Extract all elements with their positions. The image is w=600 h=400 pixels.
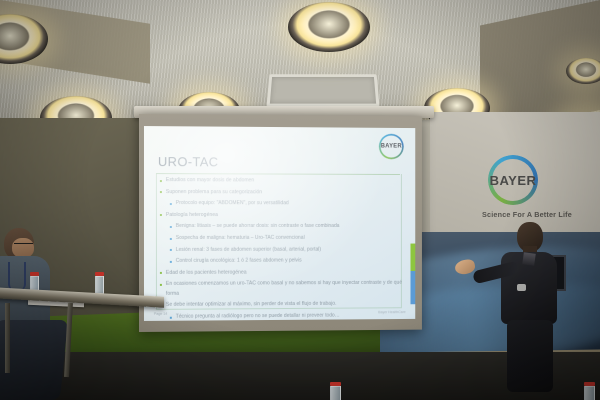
presenter-legs [507,320,553,392]
slide-bullet: Protocolo equipo: "ABDOMEN", por su vers… [158,199,404,209]
ceiling-light [566,58,600,84]
water-bottle [584,382,595,400]
bullet-marker-icon [160,191,162,193]
slide-bullet-text: Suponen problema para su categorización [166,188,262,198]
table-leg [5,303,10,373]
bullet-marker-icon [170,238,172,240]
ceiling-vent [267,74,380,106]
slide-bullet: Sospecha de maligna: hematuria – Uro-TAC… [158,234,404,244]
ceiling-light [288,2,370,52]
bullet-marker-icon [160,180,162,182]
slide-page-number: Page 14 [154,312,167,316]
presenter-badge [517,284,526,291]
slide-bullet-text: Patología heterogénea [166,211,218,220]
seated-legs [0,320,68,400]
slide-bullet: Estudios con mayor dosis de abdomen [158,176,404,186]
bullet-marker-icon [160,214,162,216]
slide-bullet-list: Estudios con mayor dosis de abdomenSupon… [158,176,404,321]
water-bottle [330,382,341,400]
bullet-marker-icon [170,316,172,318]
slide-bullet-text: Lesión renal: 3 fases de abdomen superio… [176,245,321,255]
water-bottle [95,272,104,294]
bayer-tagline: Science For A Better Life [462,210,592,219]
lanyard [8,262,26,290]
bullet-marker-icon [160,284,162,286]
slide-bullet: En ocasiones comenzamos un uro-TAC como … [158,279,404,299]
slide-bullet-text: Control cirugía oncológica: 1 ó 2 fases … [176,257,302,267]
bullet-marker-icon [170,261,172,263]
slide-bullet-text: Sospecha de maligna: hematuria – Uro-TAC… [176,234,305,243]
bayer-wall-logo: BAYER [488,155,538,205]
bottle-body [330,386,341,400]
bullet-marker-icon [170,249,172,251]
slide-bullet-text: Estudios con mayor dosis de abdomen [166,176,254,186]
slide-accent-bar [410,244,415,305]
slide-bullet: Patología heterogénea [158,211,404,220]
projection-screen: BAYER URO-TAC Estudios con mayor dosis d… [139,114,422,332]
bullet-marker-icon [170,226,172,228]
slide-bayer-logo: BAYER [379,134,404,160]
bullet-marker-icon [160,272,162,274]
bayer-logo-text: BAYER [488,155,538,205]
slide-bullet: Se debe intentar optimizar al máximo, si… [158,300,404,311]
slide-bullet: Control cirugía oncológica: 1 ó 2 fases … [158,256,404,266]
presenter-collar [522,252,536,266]
slide-footer-brand: Bayer HealthCare [378,310,405,314]
slide-bullet-text: Edad de los pacientes heterogénea [166,268,247,278]
glasses-icon [14,243,33,249]
slide-bullet-text: Se debe intentar optimizar al máximo, si… [166,300,337,310]
presenter [495,222,575,382]
slide-bullet: Lesión renal: 3 fases de abdomen superio… [158,245,404,255]
presentation-slide: BAYER URO-TAC Estudios con mayor dosis d… [144,126,415,321]
bullet-marker-icon [170,203,172,205]
slide-bullet: Suponen problema para su categorización [158,188,404,198]
slide-bullet: Benigna: litiasis – se puede ahorrar dos… [158,222,404,231]
slide-bullet-text: Benigna: litiasis – se puede ahorrar dos… [176,222,340,231]
slide-bullet-text: En ocasiones comenzamos un uro-TAC como … [166,279,404,299]
bottle-body [95,276,104,294]
slide-bullet-text: Protocolo equipo: "ABDOMEN", por su vers… [176,199,289,209]
conference-room-photo: BAYER Science For A Better Life BAYER UR… [0,0,600,400]
bottle-body [584,386,595,400]
slide-logo-text: BAYER [379,134,404,160]
slide-bullet: Edad de los pacientes heterogénea [158,268,404,278]
slide-title: URO-TAC [158,154,218,169]
